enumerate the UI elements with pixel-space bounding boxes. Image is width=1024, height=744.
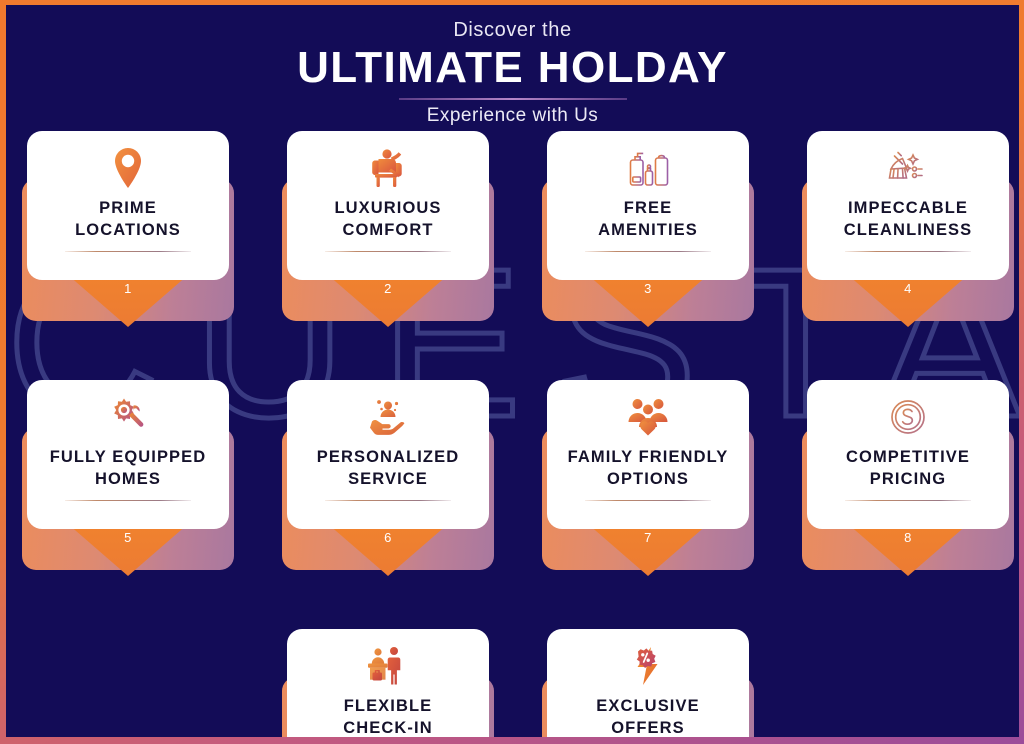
feature-card-personalized-service[interactable]: 6	[287, 380, 489, 570]
card-number: 5	[124, 531, 132, 576]
card-title: PERSONALIZED SERVICE	[297, 447, 479, 491]
feature-card-exclusive-offers[interactable]: 10	[547, 629, 749, 737]
card-face: PRIME LOCATIONS	[27, 131, 229, 280]
feature-card-impeccable-cleanliness[interactable]: 4	[807, 131, 1009, 321]
feature-card-free-amenities[interactable]: 3	[547, 131, 749, 321]
card-underline	[585, 251, 711, 253]
location-pin-icon	[37, 145, 219, 191]
header-headline: ULTIMATE HOLDAY	[6, 44, 1019, 92]
dollar-coin-icon	[817, 394, 999, 440]
gear-wrench-icon	[37, 394, 219, 440]
card-title: LUXURIOUS COMFORT	[297, 198, 479, 242]
card-underline	[845, 251, 971, 253]
card-underline	[585, 500, 711, 502]
card-face: FULLY EQUIPPED HOMES	[27, 380, 229, 529]
card-face: LUXURIOUS COMFORT	[287, 131, 489, 280]
card-underline	[845, 500, 971, 502]
lightning-discount-icon	[557, 643, 739, 689]
broom-sparkle-icon	[817, 145, 999, 191]
infographic-poster: CUESTA Discover the ULTIMATE HOLDAY Expe…	[0, 0, 1024, 744]
card-number: 6	[384, 531, 392, 576]
feature-card-luxurious-comfort[interactable]: 2	[287, 131, 489, 321]
poster-stage: CUESTA Discover the ULTIMATE HOLDAY Expe…	[6, 5, 1019, 737]
feature-card-competitive-pricing[interactable]: 8	[807, 380, 1009, 570]
card-face: IMPECCABLE CLEANLINESS	[807, 131, 1009, 280]
card-underline	[65, 251, 191, 253]
card-underline	[325, 500, 451, 502]
card-face: EXCLUSIVE OFFERS	[547, 629, 749, 737]
card-number: 4	[904, 282, 912, 327]
feature-card-family-friendly-options[interactable]: 7	[547, 380, 749, 570]
card-underline	[65, 500, 191, 502]
feature-card-fully-equipped-homes[interactable]: 5	[27, 380, 229, 570]
header-divider	[399, 98, 627, 100]
toiletries-bottles-icon	[557, 145, 739, 191]
card-title: FREE AMENITIES	[557, 198, 739, 242]
poster-inner-frame: CUESTA Discover the ULTIMATE HOLDAY Expe…	[6, 5, 1019, 737]
card-number: 7	[644, 531, 652, 576]
card-row-1: 1 PRIME LOCATIONS	[6, 131, 1019, 321]
card-face: FLEXIBLE CHECK-IN	[287, 629, 489, 737]
header-subhead: Experience with Us	[6, 105, 1019, 127]
card-number: 1	[124, 282, 132, 327]
card-face: FREE AMENITIES	[547, 131, 749, 280]
card-number: 2	[384, 282, 392, 327]
card-face: FAMILY FRIENDLY OPTIONS	[547, 380, 749, 529]
poster-header: Discover the ULTIMATE HOLDAY Experience …	[6, 19, 1019, 127]
card-title: PRIME LOCATIONS	[37, 198, 219, 242]
card-row-2: 5	[6, 380, 1019, 570]
card-title: FULLY EQUIPPED HOMES	[37, 447, 219, 491]
card-title: FLEXIBLE CHECK-IN	[297, 696, 479, 737]
family-heart-icon	[557, 394, 739, 440]
reception-desk-icon	[297, 643, 479, 689]
card-title: FAMILY FRIENDLY OPTIONS	[557, 447, 739, 491]
feature-card-flexible-check-in[interactable]: 9	[287, 629, 489, 737]
card-title: COMPETITIVE PRICING	[817, 447, 999, 491]
card-title: IMPECCABLE CLEANLINESS	[817, 198, 999, 242]
feature-card-prime-locations[interactable]: 1 PRIME LOCATIONS	[27, 131, 229, 321]
armchair-relax-icon	[297, 145, 479, 191]
hand-person-care-icon	[297, 394, 479, 440]
card-title: EXCLUSIVE OFFERS	[557, 696, 739, 737]
card-underline	[325, 251, 451, 253]
card-face: PERSONALIZED SERVICE	[287, 380, 489, 529]
card-number: 3	[644, 282, 652, 327]
card-face: COMPETITIVE PRICING	[807, 380, 1009, 529]
card-number: 8	[904, 531, 912, 576]
header-kicker: Discover the	[6, 19, 1019, 41]
feature-card-grid: 1 PRIME LOCATIONS	[6, 131, 1019, 737]
card-row-3: 9	[6, 629, 1019, 737]
